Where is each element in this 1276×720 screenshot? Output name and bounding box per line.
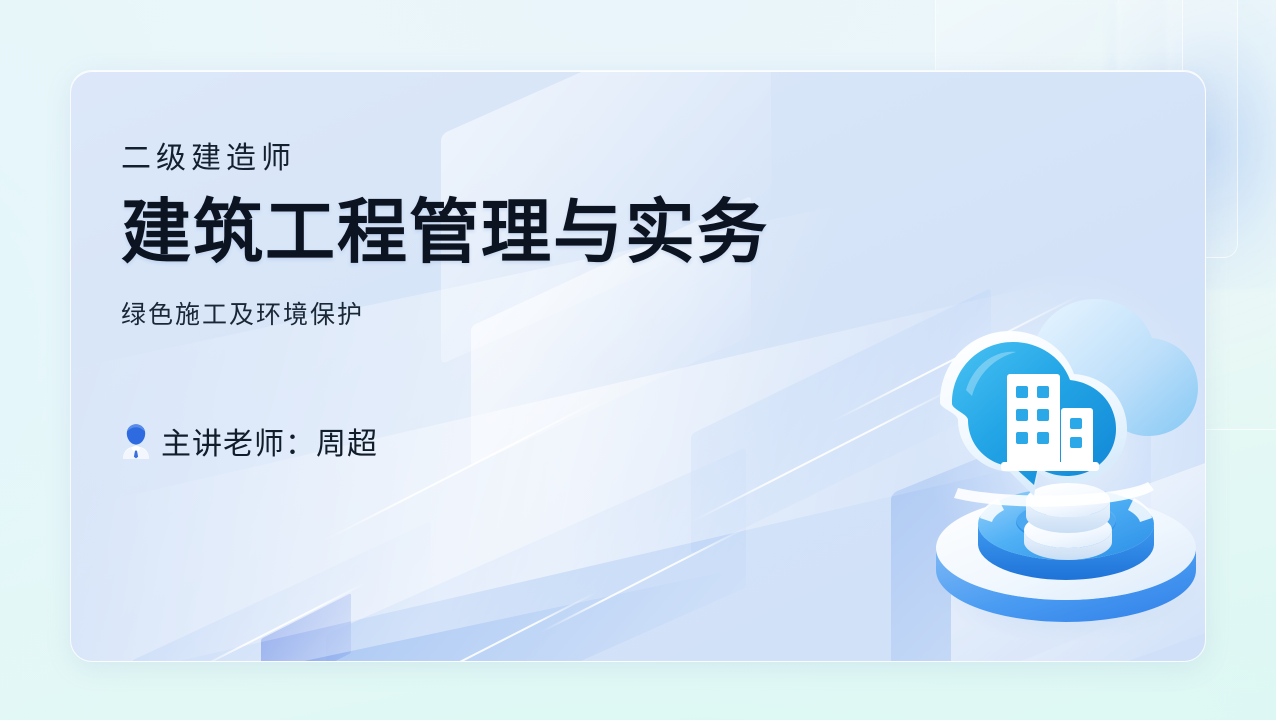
- iso-hairline-5: [191, 580, 370, 662]
- title-slide: 二级建造师 建筑工程管理与实务 绿色施工及环境保护 主讲老师：周超: [0, 0, 1276, 720]
- teacher-avatar-icon: [121, 423, 151, 459]
- course-category-label: 二级建造师: [121, 141, 881, 177]
- pedestal-base: [936, 496, 1196, 622]
- cloud-base-reflection: [954, 482, 1154, 507]
- instructor-row: 主讲老师：周超: [121, 419, 881, 463]
- cloud-building-3d-icon: [906, 256, 1206, 656]
- iso-slab-pale: [951, 446, 1206, 662]
- lesson-subtitle: 绿色施工及环境保护: [121, 295, 881, 331]
- illustration-glow: [916, 276, 1206, 606]
- iso-hairline-2: [541, 527, 747, 633]
- pedestal-upper-puck: [1026, 483, 1110, 533]
- cloud-rim: [940, 331, 1127, 496]
- slide-card: 二级建造师 建筑工程管理与实务 绿色施工及环境保护 主讲老师：周超: [70, 70, 1206, 662]
- iso-hairline-6: [401, 591, 598, 662]
- instructor-name-label: 主讲老师：周超: [161, 419, 378, 463]
- iso-slab-right-deep: [891, 388, 1151, 662]
- title-text-block: 二级建造师 建筑工程管理与实务 绿色施工及环境保护 主讲老师：周超: [121, 141, 881, 463]
- iso-slab-blue-3: [131, 521, 431, 662]
- cloud-building-illustration-svg: [906, 256, 1206, 656]
- illustration-ground-shadow: [926, 530, 1206, 642]
- page-title: 建筑工程管理与实务: [121, 195, 881, 269]
- iso-slab-blue-2: [326, 448, 746, 662]
- cloud-back-layer: [1026, 299, 1198, 454]
- pedestal-lower-puck: [1024, 512, 1112, 560]
- pedestal-ring: [978, 488, 1154, 580]
- building-icon: [1001, 374, 1099, 471]
- cloud-front-face: [952, 342, 1116, 485]
- iso-slab-accent: [261, 593, 351, 662]
